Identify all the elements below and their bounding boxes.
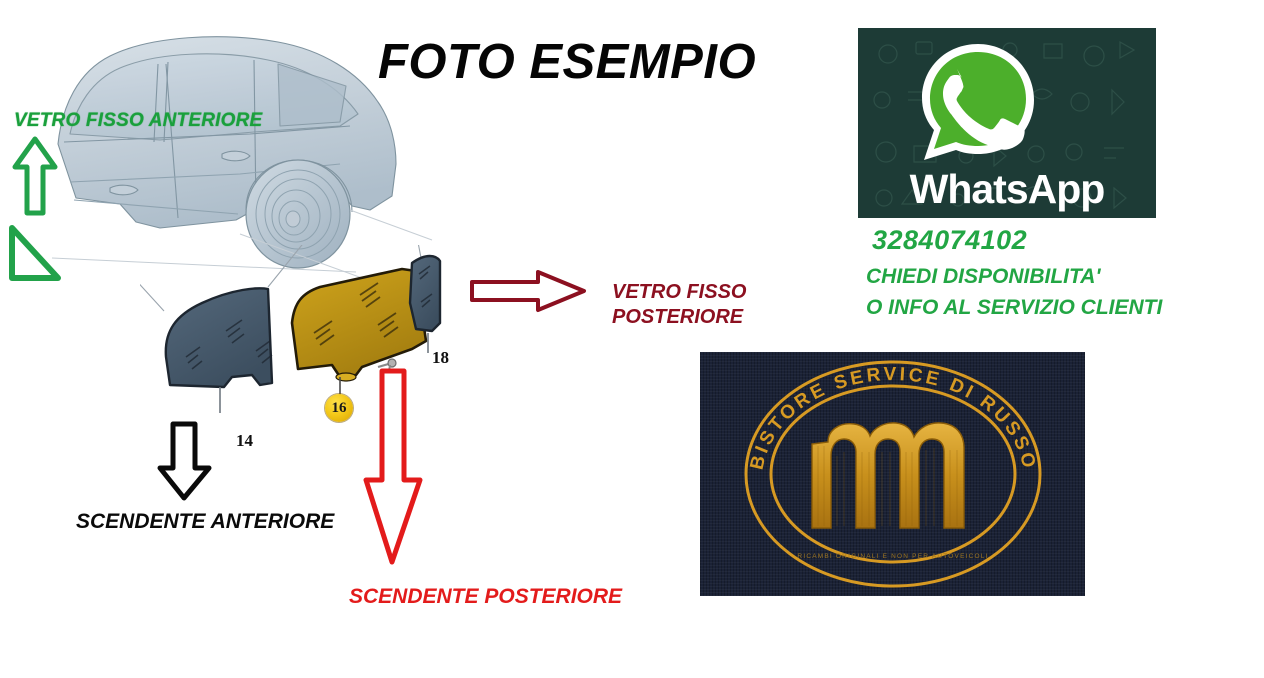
up-arrow-icon xyxy=(12,135,58,222)
whatsapp-wordmark: WhatsApp xyxy=(858,166,1156,213)
label-line-1: VETRO FISSO xyxy=(612,280,746,305)
label-scendente-posteriore: SCENDENTE POSTERIORE xyxy=(349,585,622,609)
part-number-18: 18 xyxy=(432,348,449,368)
whatsapp-phone-number[interactable]: 3284074102 xyxy=(872,225,1027,256)
down-arrow-icon xyxy=(155,420,215,507)
availability-info-line-2: O INFO AL SERVIZIO CLIENTI xyxy=(866,296,1162,320)
brand-logo-image: MRICAMBISTORE SERVICE DI RUSSO MARCO RIC… xyxy=(700,352,1085,596)
label-vetro-fisso-anteriore: VETRO FISSO ANTERIORE xyxy=(14,110,262,132)
brand-footer-microtext: RICAMBI ORIGINALI E NON PER AUTOVEICOLI xyxy=(797,553,988,560)
whatsapp-banner[interactable]: WhatsApp xyxy=(858,28,1156,218)
right-arrow-icon xyxy=(468,268,588,319)
triangle-marker-icon xyxy=(6,222,62,289)
availability-info-line-1: CHIEDI DISPONIBILITA' xyxy=(866,265,1100,289)
whatsapp-logo-icon xyxy=(910,36,1046,170)
label-line-2: POSTERIORE xyxy=(612,305,746,330)
down-arrow-long-icon xyxy=(360,368,426,573)
label-vetro-fisso-posteriore: VETRO FISSO POSTERIORE xyxy=(612,280,746,330)
part-number-14: 14 xyxy=(236,431,253,451)
exploded-glass-panels xyxy=(140,245,500,445)
part-number-16-badge: 16 xyxy=(325,394,353,422)
label-scendente-anteriore: SCENDENTE ANTERIORE xyxy=(76,510,334,534)
screenshot-canvas: FOTO ESEMPIO xyxy=(0,0,1264,678)
